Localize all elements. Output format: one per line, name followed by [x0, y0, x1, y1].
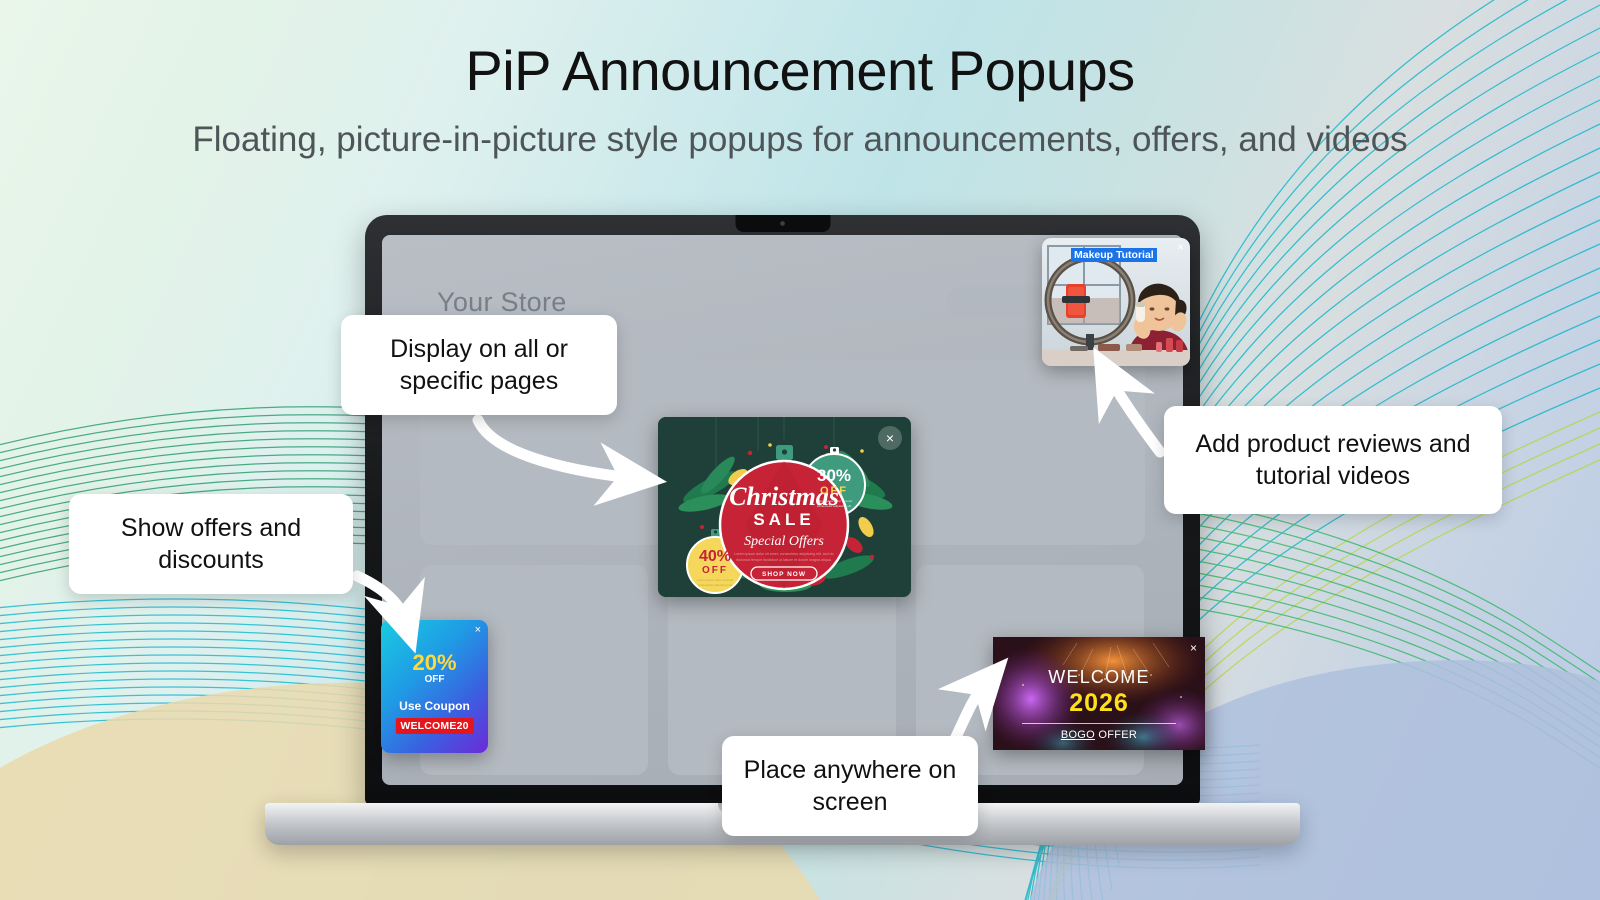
page-title: PiP Announcement Popups: [0, 38, 1600, 103]
popup-coupon-offer[interactable]: × 20% OFF Use Coupon WELCOME20: [381, 620, 488, 753]
svg-text:OFF: OFF: [702, 565, 728, 576]
svg-text:SALE: SALE: [753, 510, 814, 529]
svg-text:eiusmod tempor incididunt ut l: eiusmod tempor incididunt ut labore et d…: [736, 558, 832, 562]
coupon-use-label: Use Coupon: [381, 699, 488, 713]
svg-text:consectetur adipiscing elit: consectetur adipiscing elit: [698, 583, 733, 587]
svg-text:Lorem ipsum dolor sit amet: Lorem ipsum dolor sit amet: [816, 499, 852, 503]
callout-show-offers: Show offers and discounts: [69, 494, 353, 594]
popup-christmas-sale[interactable]: Christmas SALE Special Offers Lorem ipsu…: [658, 417, 911, 597]
popup-welcome-2026[interactable]: × WELCOME 2026 BOGO OFFER: [993, 637, 1205, 750]
welcome-label: WELCOME: [993, 667, 1205, 688]
page-subtitle: Floating, picture-in-picture style popup…: [0, 120, 1600, 160]
coupon-code[interactable]: WELCOME20: [395, 718, 473, 734]
close-icon[interactable]: ×: [1190, 642, 1197, 654]
svg-text:SHOP NOW: SHOP NOW: [762, 571, 806, 578]
svg-text:30%: 30%: [817, 466, 851, 485]
welcome-year: 2026: [993, 689, 1205, 718]
close-icon[interactable]: ×: [1177, 241, 1184, 253]
welcome-offer-rest: OFFER: [1095, 729, 1137, 741]
christmas-artwork: Christmas SALE Special Offers Lorem ipsu…: [658, 417, 911, 597]
webcam-notch: [735, 215, 830, 232]
popup-tutorial-video[interactable]: Makeup Tutorial ×: [1042, 238, 1190, 366]
store-name: Your Store: [437, 287, 567, 318]
welcome-offer-label: BOGO OFFER: [993, 729, 1205, 741]
coupon-off-label: OFF: [381, 674, 488, 685]
callout-display-pages: Display on all or specific pages: [341, 315, 617, 415]
welcome-offer-strong: BOGO: [1061, 729, 1095, 741]
divider: [1022, 723, 1176, 724]
callout-add-reviews: Add product reviews and tutorial videos: [1164, 406, 1502, 514]
svg-text:40%: 40%: [699, 548, 731, 565]
video-title-badge: Makeup Tutorial: [1071, 248, 1157, 262]
svg-text:Special Offers: Special Offers: [744, 534, 824, 549]
close-icon[interactable]: ×: [475, 625, 481, 636]
coupon-percent: 20%: [381, 650, 488, 676]
poster-canvas: PiP Announcement Popups Floating, pictur…: [0, 0, 1600, 900]
close-icon[interactable]: ×: [878, 426, 902, 450]
svg-text:Lorem ipsum dolor sit amet, co: Lorem ipsum dolor sit amet, consectetur …: [734, 552, 833, 556]
svg-text:Lorem ipsum dolor sit amet: Lorem ipsum dolor sit amet: [697, 578, 733, 582]
callout-place-anywhere: Place anywhere on screen: [722, 736, 978, 836]
svg-text:OFF: OFF: [820, 485, 848, 497]
svg-text:consectetur adipiscing elit: consectetur adipiscing elit: [817, 504, 852, 508]
